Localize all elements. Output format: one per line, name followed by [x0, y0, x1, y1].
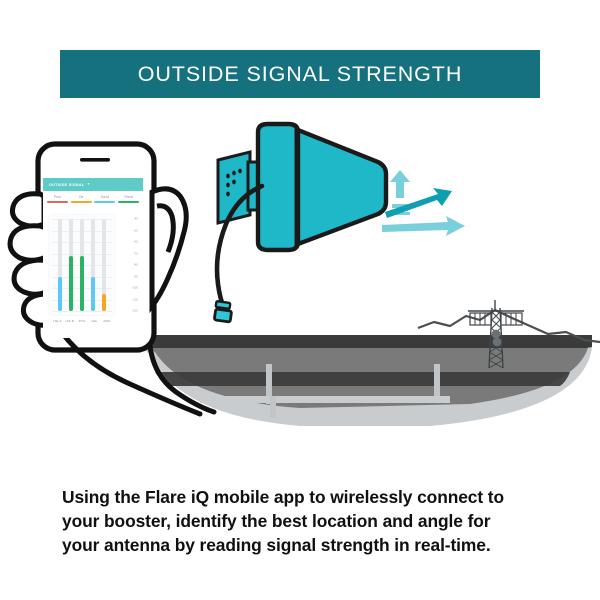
chevron-down-icon[interactable]: ▾ — [87, 183, 89, 186]
chart-y-axis: -40-50-60-70-80-90-100-110-120 — [118, 215, 140, 315]
signal-arrows — [382, 170, 465, 236]
bar-fill — [69, 256, 73, 311]
legend-item-poor: Poor — [47, 194, 68, 203]
bar-fill — [102, 294, 106, 311]
legend-label: Good — [94, 194, 115, 200]
y-tick-label: -70 — [134, 252, 138, 255]
infographic-stage: OUTSIDE SIGNAL STRENGTH — [0, 0, 600, 600]
legend-item-ok: Ok — [71, 194, 92, 203]
y-tick-label: -80 — [134, 263, 138, 266]
legend-label: Ok — [71, 194, 92, 200]
chart-bar-lte-a[interactable] — [58, 219, 62, 311]
chart-legend: Poor Ok Good Great — [43, 191, 143, 203]
legend-label: Great — [118, 194, 139, 200]
y-tick-label: -90 — [134, 275, 138, 278]
signal-bar-chart — [49, 215, 115, 315]
legend-swatch — [118, 201, 139, 203]
y-tick-label: -50 — [134, 229, 138, 232]
roof-post — [434, 364, 440, 400]
caption-line-3: your antenna by reading signal strength … — [62, 533, 542, 557]
x-tick-label: PCS — [76, 319, 88, 323]
chart-x-axis: LTE-ALTE-BPCSCELAWS — [49, 319, 115, 323]
chart-bars — [49, 215, 115, 315]
hand-thumb — [152, 189, 186, 306]
legend-label: Poor — [47, 194, 68, 200]
x-tick-label: AWS — [101, 319, 113, 323]
tower-dish — [493, 338, 502, 347]
bar-fill — [58, 277, 62, 312]
y-tick-label: -110 — [132, 298, 138, 301]
caption-line-1: Using the Flare iQ mobile app to wireles… — [62, 485, 542, 509]
cable-connector — [214, 301, 231, 322]
y-tick-label: -40 — [134, 217, 138, 220]
legend-swatch — [71, 201, 92, 203]
y-tick-label: -60 — [134, 240, 138, 243]
page-title: OUTSIDE SIGNAL STRENGTH — [138, 62, 463, 87]
chart-bar-lte-b[interactable] — [69, 219, 73, 311]
x-tick-label: LTE-A — [51, 319, 63, 323]
tower-dish — [492, 330, 501, 339]
legend-item-good: Good — [94, 194, 115, 203]
legend-item-great: Great — [118, 194, 139, 203]
legend-swatch — [47, 201, 68, 203]
roof-post — [270, 396, 276, 418]
bar-fill — [80, 256, 84, 311]
x-tick-label: CEL — [88, 319, 100, 323]
phone-speaker — [80, 158, 110, 162]
y-tick-label: -120 — [132, 309, 138, 312]
app-header-bar[interactable]: OUTSIDE SIGNAL ▾ — [43, 178, 143, 191]
chart-bar-pcs[interactable] — [80, 219, 84, 311]
legend-swatch — [94, 201, 115, 203]
title-banner: OUTSIDE SIGNAL STRENGTH — [60, 50, 540, 98]
chart-bar-aws[interactable] — [102, 219, 106, 311]
bar-fill — [91, 277, 95, 312]
roof-rail — [200, 396, 450, 403]
caption-line-2: your booster, identify the best location… — [62, 509, 542, 533]
directional-panel-antenna — [258, 124, 386, 250]
chart-bar-cel[interactable] — [91, 219, 95, 311]
app-header-title: OUTSIDE SIGNAL — [49, 183, 84, 187]
caption: Using the Flare iQ mobile app to wireles… — [62, 485, 542, 557]
y-tick-label: -100 — [132, 286, 138, 289]
x-tick-label: LTE-B — [64, 319, 76, 323]
phone-screen: OUTSIDE SIGNAL ▾ Poor Ok Good Great — [43, 178, 143, 338]
